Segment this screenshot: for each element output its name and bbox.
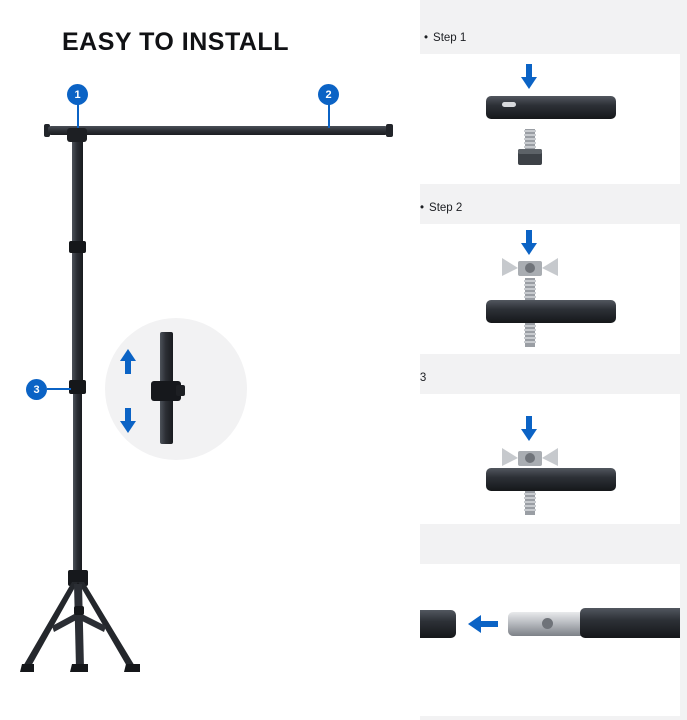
step-2-card [390, 224, 680, 354]
step-3-down-arrow-icon [520, 416, 538, 442]
step-2-down-arrow-icon [520, 230, 538, 256]
step-3-black-tube [486, 468, 616, 491]
step-2-upper-screw [520, 278, 540, 302]
step-2-bullet: • [420, 202, 424, 214]
step-4-left-arrow-icon [468, 614, 498, 634]
step-1-tube-hole [502, 102, 516, 107]
step-2-black-tube [486, 300, 616, 323]
step-3-card [390, 394, 680, 524]
step-1-bullet: • [424, 32, 428, 44]
steps-panel: •Step 1 [390, 0, 687, 720]
badge-2: 2 [318, 84, 339, 105]
step-1-label: •Step 1 [424, 32, 466, 44]
badge-2-leader-line [328, 104, 330, 128]
step-1-black-tube [486, 96, 616, 119]
badge-3-leader-line [47, 388, 71, 390]
step-2-lower-screw [520, 323, 540, 349]
step-4-black-tube [580, 608, 687, 638]
step-1-screw-bolt [513, 129, 547, 169]
callout-up-arrow-icon [119, 348, 137, 374]
step-4-silver-knob [542, 618, 553, 629]
step-2-wing-nut [502, 256, 558, 280]
callout-down-arrow-icon [119, 408, 137, 434]
step-1-card [390, 54, 680, 184]
hero-panel: EASY TO INSTALL [0, 0, 420, 720]
step-4-card [390, 564, 680, 716]
badge-1: 1 [67, 84, 88, 105]
step-3-wing-nut-tightened [502, 446, 558, 470]
badge-1-leader-line [77, 104, 79, 128]
step-3-lower-screw [520, 491, 540, 517]
step-2-label: •Step 2 [420, 202, 462, 214]
step-1-down-arrow-icon [520, 64, 538, 90]
badge-3: 3 [26, 379, 47, 400]
infographic-page: •Step 1 [0, 0, 687, 720]
callout-lock-knob [176, 385, 185, 396]
